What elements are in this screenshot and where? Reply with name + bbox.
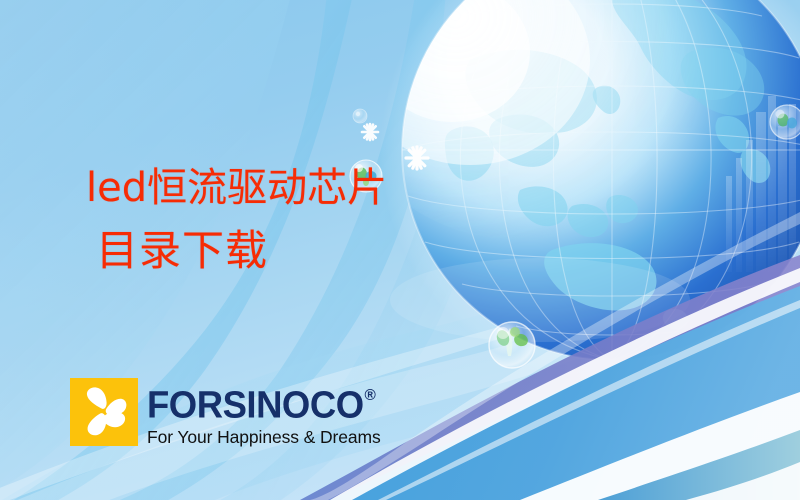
banner-canvas: led恒流驱动芯片 目录下载 FORSINOCO®	[0, 0, 800, 500]
company-logo: FORSINOCO® For Your Happiness & Dreams	[70, 378, 384, 447]
logo-wordmark: FORSINOCO®	[147, 380, 374, 426]
forsinoco-pinwheel-mark	[70, 378, 138, 446]
bubble-globe-edge	[770, 105, 800, 139]
logo-text-block: FORSINOCO® For Your Happiness & Dreams	[147, 378, 384, 447]
sparkle-asterisk-2	[406, 147, 428, 169]
logo-wordmark-text: FORSINOCO	[147, 385, 364, 427]
bubble-globe-medium	[350, 160, 382, 192]
sparkle-asterisk-1	[362, 124, 378, 140]
logo-tagline: For Your Happiness & Dreams	[147, 427, 384, 447]
registered-trademark-icon: ®	[365, 387, 376, 404]
bubble-globe-small	[353, 109, 367, 123]
bubble-sprout	[489, 322, 535, 368]
pinwheel-petals-icon	[70, 378, 138, 446]
